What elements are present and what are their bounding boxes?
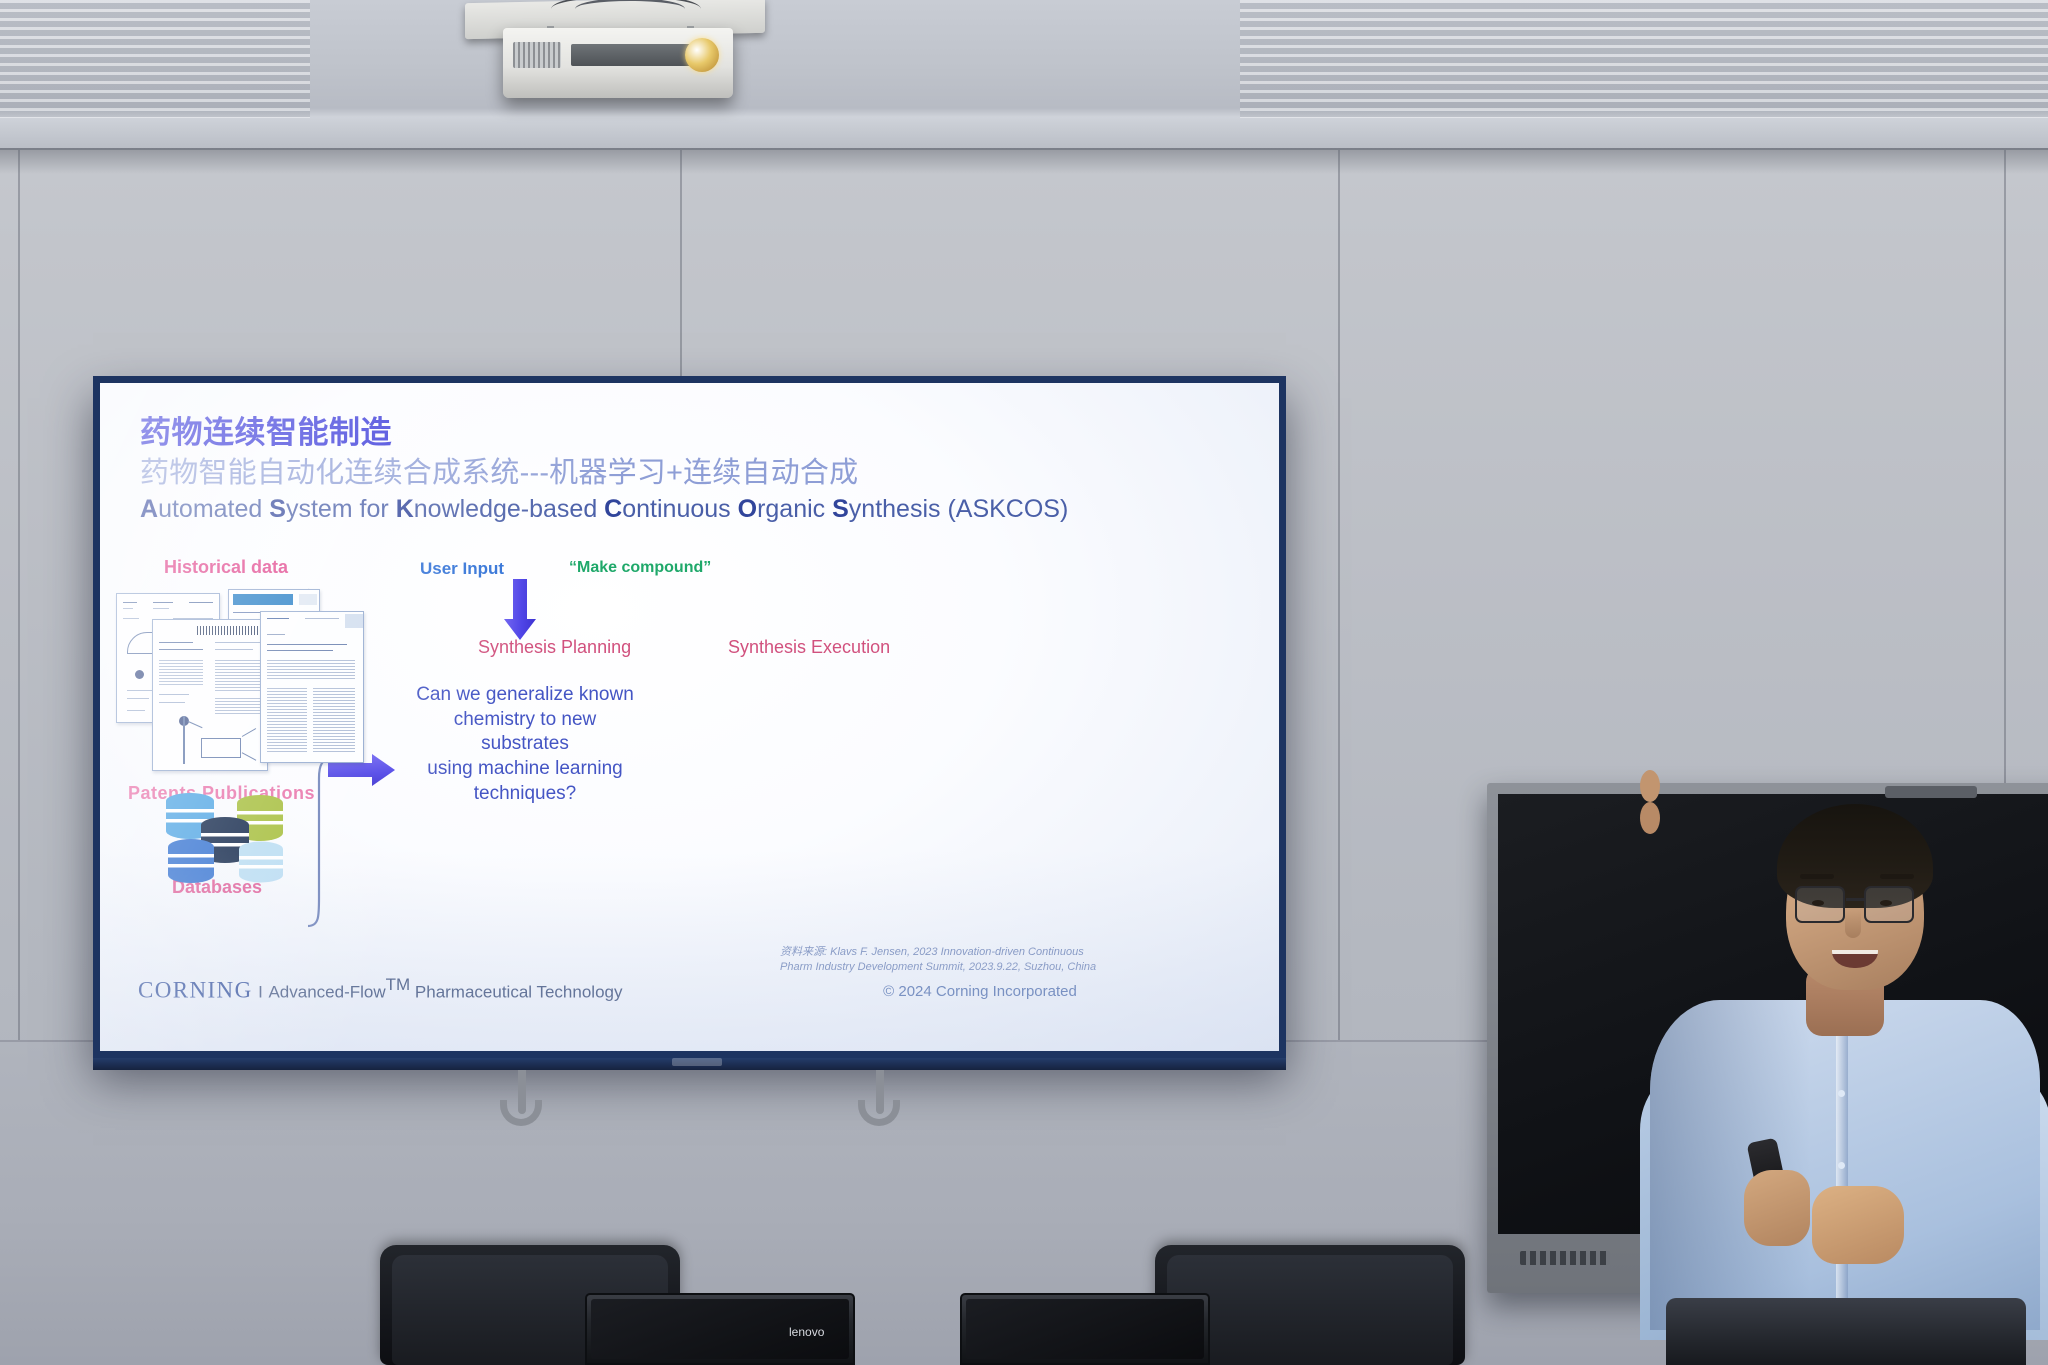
slide-subtitle-chinese: 药物智能自动化连续合成系统---机器学习+连续自动合成 <box>140 449 858 491</box>
projector-ports <box>571 44 691 66</box>
askcos-cap-k: K <box>396 495 414 523</box>
slide-copyright: © 2024 Corning Incorporated <box>780 983 1180 1000</box>
presenter-ear-right <box>1640 802 1660 834</box>
footer-separator: I <box>258 983 263 1002</box>
db-cylinder-royal <box>168 839 214 883</box>
whiteboard-ports <box>1520 1251 1610 1265</box>
citation-source-label: 资料来源: <box>780 946 827 958</box>
presenter-trousers <box>1666 1298 2026 1365</box>
askcos-cap-s2: S <box>832 495 849 523</box>
slide-citation: 资料来源: Klavs F. Jensen, 2023 Innovation-d… <box>780 945 1180 975</box>
projection-screen: 药物连续智能制造 药物智能自动化连续合成系统---机器学习+连续自动合成 Aut… <box>93 376 1286 1058</box>
label-make-compound: “Make compound” <box>569 559 711 577</box>
label-synthesis-planning: Synthesis Planning <box>478 637 631 658</box>
slide-title-chinese: 药物连续智能制造 <box>140 407 392 452</box>
glasses-bridge-icon <box>1846 898 1864 901</box>
slide-content: 药物连续智能制造 药物智能自动化连续合成系统---机器学习+连续自动合成 Aut… <box>100 383 1279 1051</box>
documents-thumbnail-group <box>110 589 320 779</box>
citation-line-2: Pharm Industry Development Summit, 2023.… <box>780 961 1096 973</box>
label-synthesis-execution: Synthesis Execution <box>728 637 890 658</box>
ceiling-projector <box>455 0 775 120</box>
projector-lens-icon <box>685 38 719 72</box>
presenter-ear-left <box>1640 770 1660 802</box>
document-thumbnail-journal-front <box>260 611 364 763</box>
laptop-lid <box>966 1299 1204 1359</box>
citation-line-1: Klavs F. Jensen, 2023 Innovation-driven … <box>827 946 1084 958</box>
projector-body <box>503 28 733 98</box>
down-arrow-icon <box>503 579 537 641</box>
question-line-3: substrates <box>400 732 650 757</box>
window-blind-left <box>0 0 310 118</box>
presenter-eyebrow-right <box>1880 874 1914 879</box>
presenter-eyebrow-left <box>1800 874 1834 879</box>
presenter-shirt-button <box>1838 1162 1845 1169</box>
question-line-4: using machine learning <box>400 757 650 782</box>
presenter-hand-right <box>1812 1186 1904 1264</box>
trademark-symbol: TM <box>386 975 411 994</box>
askcos-text: ontinuous <box>622 495 737 523</box>
presenter-shirt-shading <box>1650 1000 1810 1330</box>
corning-footer-branding: CORNING I Advanced-FlowTM Pharmaceutical… <box>138 975 622 1004</box>
document-thumbnail-patent-front <box>152 619 268 771</box>
label-user-input: User Input <box>420 559 504 579</box>
db-cylinder-pale <box>239 842 283 883</box>
question-line-1: Can we generalize known <box>400 683 650 708</box>
databases-icon-group <box>162 789 292 881</box>
wall-seam <box>18 150 20 1050</box>
wall-shade <box>0 148 2048 174</box>
screen-brand-tag <box>672 1058 722 1066</box>
askcos-text: ystem for <box>286 495 396 523</box>
projector-vent-icon <box>513 42 561 68</box>
askcos-text: rganic <box>757 495 832 523</box>
presenter-shirt-placket <box>1836 1032 1848 1332</box>
laptop-left[interactable]: lenovo <box>585 1293 855 1365</box>
question-line-2: chemistry to new <box>400 708 650 733</box>
question-text-block: Can we generalize known chemistry to new… <box>400 683 650 806</box>
askcos-text: nowledge-based <box>414 495 604 523</box>
presenter-eye-left <box>1812 900 1824 906</box>
footer-product-tail: Pharmaceutical Technology <box>410 983 622 1002</box>
askcos-cap-a: A <box>140 495 158 523</box>
presenter <box>1640 770 2048 1365</box>
laptop-logo: lenovo <box>789 1325 824 1339</box>
window-blind-right <box>1240 0 2048 118</box>
question-line-5: techniques? <box>400 782 650 807</box>
footer-product-name: Advanced-Flow <box>268 983 385 1002</box>
slide-subtitle-english: Automated System for Knowledge-based Con… <box>140 495 1068 524</box>
presenter-hand-left <box>1744 1170 1810 1246</box>
slide-surface: 药物连续智能制造 药物智能自动化连续合成系统---机器学习+连续自动合成 Aut… <box>100 383 1279 1051</box>
askcos-text: ynthesis (ASKCOS) <box>849 495 1069 523</box>
askcos-cap-c: C <box>604 495 622 523</box>
corning-wordmark: CORNING <box>138 978 253 1003</box>
presenter-eye-right <box>1880 900 1892 906</box>
askcos-cap-o: O <box>738 495 757 523</box>
askcos-cap-s1: S <box>269 495 286 523</box>
laptop-right[interactable] <box>960 1293 1210 1365</box>
label-historical-data: Historical data <box>164 557 288 578</box>
presenter-shirt-button <box>1838 1090 1845 1097</box>
presenter-nose <box>1845 910 1861 938</box>
askcos-text: utomated <box>158 495 269 523</box>
scene: 药物连续智能制造 药物智能自动化连续合成系统---机器学习+连续自动合成 Aut… <box>0 0 2048 1365</box>
wall-seam <box>1338 150 1340 1050</box>
